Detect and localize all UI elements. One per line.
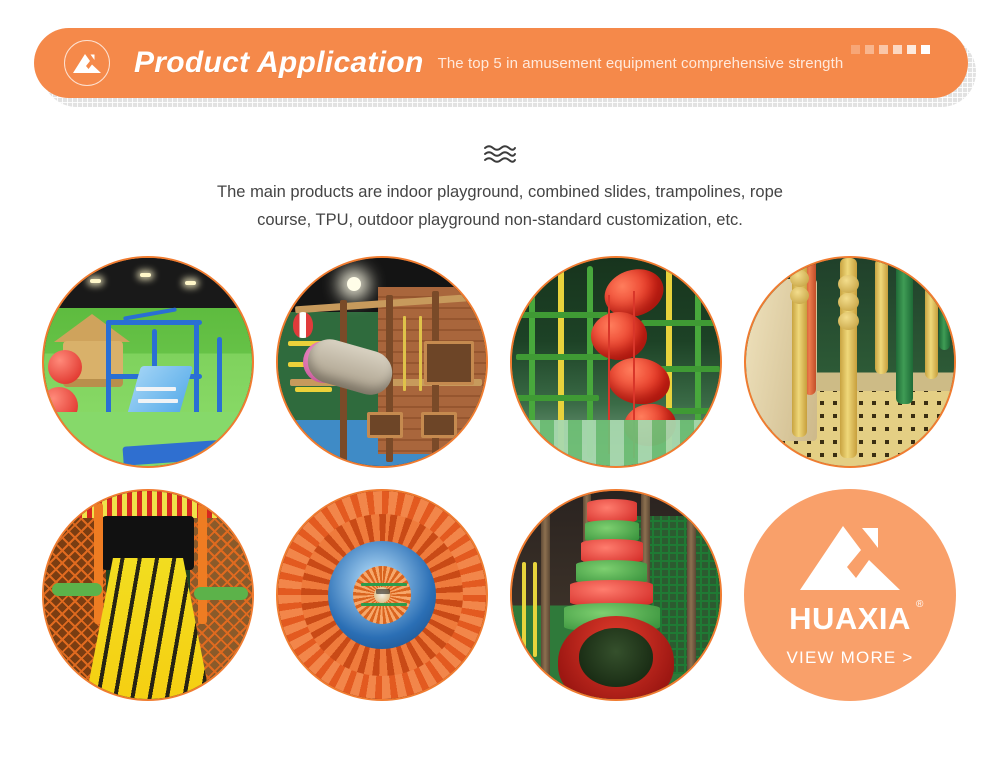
gallery-item[interactable] [276,256,488,468]
header-banner: Product Application The top 5 in amuseme… [34,28,968,98]
mountain-logo-icon [798,520,902,599]
gallery-image-5[interactable] [42,489,254,701]
decorative-dots [851,45,930,54]
gallery-item[interactable] [510,489,722,701]
dot [851,45,860,54]
page-subtitle: The top 5 in amusement equipment compreh… [438,55,844,72]
gallery-item[interactable] [42,256,254,468]
gallery-item[interactable] [744,256,956,468]
gallery-image-1[interactable] [42,256,254,468]
view-more-label: VIEW MORE > [786,648,913,668]
gallery-item[interactable] [42,489,254,701]
intro-text: The main products are indoor playground,… [150,178,850,234]
brand-name: HUAXIA [789,601,911,636]
wave-divider-icon [0,143,1000,169]
gallery-item[interactable] [276,489,488,701]
dot [907,45,916,54]
product-gallery: HUAXIA ® VIEW MORE > [42,256,972,701]
gallery-item-view-more[interactable]: HUAXIA ® VIEW MORE > [744,489,956,701]
view-more-button[interactable]: HUAXIA ® VIEW MORE > [744,489,956,701]
page-title: Product Application [134,46,424,80]
dot [893,45,902,54]
intro-line-1: The main products are indoor playground,… [150,178,850,206]
dot [879,45,888,54]
intro-line-2: course, TPU, outdoor playground non-stan… [150,206,850,234]
page-header: Product Application The top 5 in amuseme… [34,28,968,98]
gallery-image-7[interactable] [510,489,722,701]
brand-wordmark: HUAXIA ® [789,603,911,634]
gallery-image-2[interactable] [276,256,488,468]
gallery-image-6[interactable] [276,489,488,701]
gallery-image-3[interactable] [510,256,722,468]
registered-mark-icon: ® [916,600,924,610]
gallery-image-4[interactable] [744,256,956,468]
mountain-logo-icon [64,40,110,86]
dot [921,45,930,54]
dot [865,45,874,54]
gallery-item[interactable] [510,256,722,468]
